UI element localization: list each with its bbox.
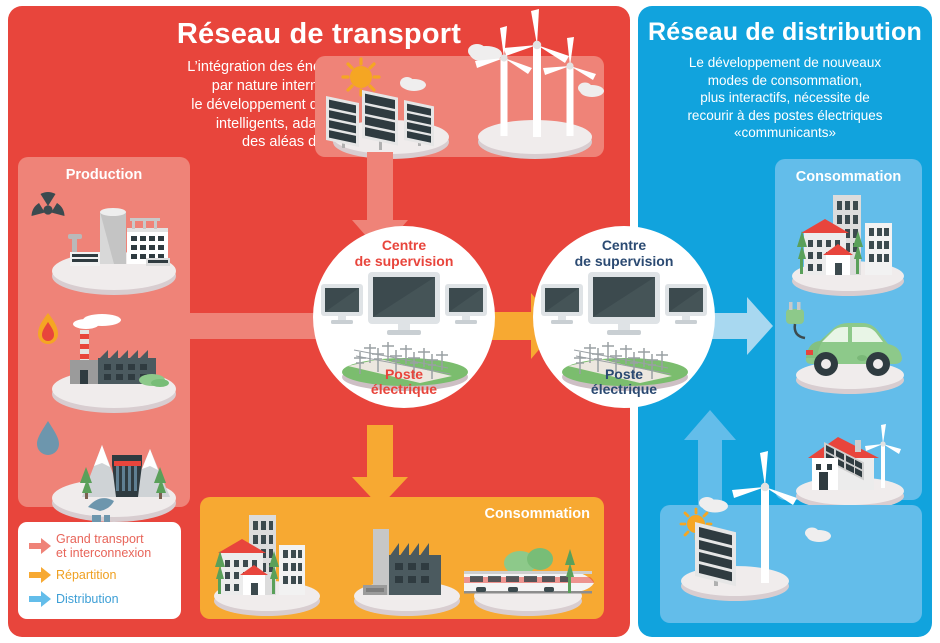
legend-item-label: Distribution bbox=[56, 592, 119, 606]
consumption-card-label: Consommation bbox=[775, 169, 922, 185]
supervision-hub-distribution: Centre de supervision bbox=[533, 226, 715, 408]
radiation-icon bbox=[32, 192, 65, 216]
legend-item-grand-transport: Grand transport et interconnexion bbox=[29, 532, 151, 560]
legend-arrow-icon bbox=[29, 567, 51, 583]
wind-turbine bbox=[732, 451, 797, 583]
monitor-right-icon bbox=[445, 284, 487, 324]
decentralized-renewables-illustration bbox=[665, 470, 845, 625]
solar-farm-illustration bbox=[318, 44, 463, 162]
distribution-network-description: Le développement de nouveaux modes de co… bbox=[638, 54, 932, 142]
nuclear-plant-illustration bbox=[26, 190, 186, 300]
cloud-icon bbox=[578, 83, 604, 98]
factory-illustration bbox=[345, 505, 470, 617]
thermal-plant-illustration bbox=[26, 308, 186, 418]
city-buildings-illustration bbox=[205, 505, 330, 617]
sun-icon bbox=[343, 59, 379, 95]
hydro-dam-illustration bbox=[26, 415, 186, 533]
wind-turbine bbox=[475, 26, 532, 136]
cloud-icon bbox=[400, 77, 426, 91]
production-card-label: Production bbox=[18, 167, 190, 183]
control-room-monitors bbox=[539, 272, 709, 338]
cloud-icon bbox=[699, 497, 728, 513]
arrow-hub-to-distribution bbox=[707, 297, 773, 355]
legend-item-repartition: Répartition bbox=[29, 567, 116, 583]
arrow-hub-to-consumption bbox=[352, 425, 408, 507]
distribution-network-title: Réseau de distribution bbox=[638, 18, 932, 47]
wind-turbine bbox=[504, 9, 569, 137]
water-drop-icon bbox=[37, 421, 59, 455]
train-illustration bbox=[460, 505, 600, 617]
legend-item-label: Grand transport et interconnexion bbox=[56, 532, 151, 560]
monitor-left-icon bbox=[541, 284, 583, 324]
monitor-center-icon bbox=[368, 272, 440, 335]
hub-bottom-label: Poste électrique bbox=[313, 367, 495, 398]
legend: Grand transport et interconnexion Répart… bbox=[18, 522, 181, 619]
legend-item-label: Répartition bbox=[56, 568, 116, 582]
electric-car-illustration bbox=[782, 300, 918, 396]
monitor-right-icon bbox=[665, 284, 707, 324]
flame-icon bbox=[38, 313, 58, 344]
infographic-canvas: Réseau de transport L’intégration des én… bbox=[0, 0, 940, 643]
cloud-icon bbox=[805, 528, 831, 543]
hub-bottom-label: Poste électrique bbox=[533, 367, 715, 398]
wind-farm-illustration bbox=[462, 28, 612, 162]
monitor-center-icon bbox=[588, 272, 660, 335]
legend-arrow-icon bbox=[29, 538, 51, 554]
legend-item-distribution: Distribution bbox=[29, 591, 119, 607]
power-plug-icon bbox=[786, 302, 805, 338]
hub-top-label: Centre de supervision bbox=[313, 238, 495, 269]
hub-top-label: Centre de supervision bbox=[533, 238, 715, 269]
monitor-left-icon bbox=[321, 284, 363, 324]
residential-buildings-illustration bbox=[778, 187, 920, 297]
legend-arrow-icon bbox=[29, 591, 51, 607]
supervision-hub-transport: Centre de supervision bbox=[313, 226, 495, 408]
control-room-monitors bbox=[319, 272, 489, 338]
